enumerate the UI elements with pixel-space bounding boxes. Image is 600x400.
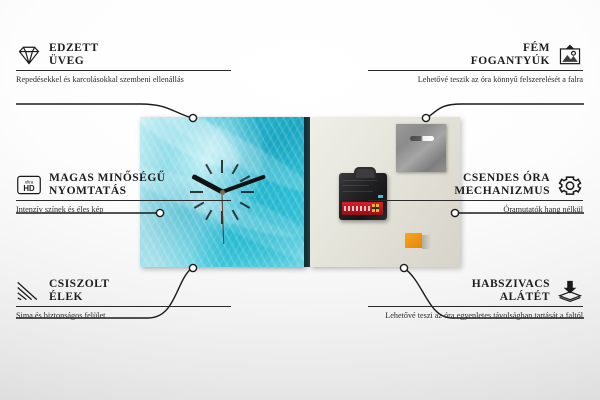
callout-desc: Lehetővé teszik az óra könnyű felszerelé… (368, 75, 583, 86)
callout-title: CSENDES ÓRA (454, 172, 550, 185)
battery-text (344, 206, 371, 211)
callout-title-2: FOGANTYÚK (471, 55, 550, 68)
callout-rule (16, 70, 231, 71)
press-pad-icon (557, 279, 583, 303)
callout-rule (368, 306, 583, 307)
callout-high-quality-print: ultra HD MAGAS MINŐSÉGŰ NYOMTATÁS Intenz… (16, 172, 231, 216)
callout-title-2: ALÁTÉT (472, 291, 550, 304)
callout-title: MAGAS MINŐSÉGŰ (49, 172, 166, 185)
connector-line-1 (16, 104, 192, 118)
callout-title-2: NYOMTATÁS (49, 185, 166, 198)
callout-desc: Sima és biztonságos felület (16, 311, 231, 322)
metal-hanger-plate (396, 124, 446, 172)
callout-metal-handles: FÉM FOGANTYÚK Lehetővé teszik az óra kön… (368, 42, 583, 86)
callout-title-2: MECHANIZMUS (454, 185, 550, 198)
callout-rule (16, 306, 231, 307)
foam-pad (405, 233, 422, 248)
connector-line-4 (427, 104, 584, 118)
svg-text:HD: HD (23, 184, 35, 193)
callout-rule (16, 200, 231, 201)
callout-title: FÉM (471, 42, 550, 55)
polished-edges-icon (16, 279, 42, 303)
picture-hanger-icon (557, 43, 583, 67)
callout-silent-mechanism: CSENDES ÓRA MECHANIZMUS Óramutatók hang … (368, 172, 583, 216)
callout-polished-edges: CSISZOLT ÉLEK Sima és biztonságos felüle… (16, 278, 231, 322)
callout-title-2: ÜVEG (49, 55, 99, 68)
gear-icon (557, 173, 583, 197)
callout-rule (368, 200, 583, 201)
callout-title: CSISZOLT (49, 278, 109, 291)
callout-foam-pad: HABSZIVACS ALÁTÉT Lehetővé teszi az óra … (368, 278, 583, 322)
hanger-slot (410, 136, 434, 141)
diamond-icon (16, 43, 42, 67)
foam-pad-shadow (422, 235, 431, 249)
callout-tempered-glass: EDZETT ÜVEG Repedésekkel és karcolásokka… (16, 42, 231, 86)
callout-rule (368, 70, 583, 71)
callout-desc: Repedésekkel és karcolásokkal szembeni e… (16, 75, 231, 86)
callout-desc: Intenzív színek és éles kép (16, 205, 231, 216)
infographic-stage: EDZETT ÜVEG Repedésekkel és karcolásokka… (0, 0, 600, 400)
callout-title-2: ÉLEK (49, 291, 109, 304)
ultra-hd-icon: ultra HD (16, 173, 42, 197)
callout-desc: Óramutatók hang nélkül (368, 205, 583, 216)
callout-desc: Lehetővé teszi az óra egyenletes távolsá… (368, 311, 583, 322)
callout-title: EDZETT (49, 42, 99, 55)
callout-title: HABSZIVACS (472, 278, 550, 291)
